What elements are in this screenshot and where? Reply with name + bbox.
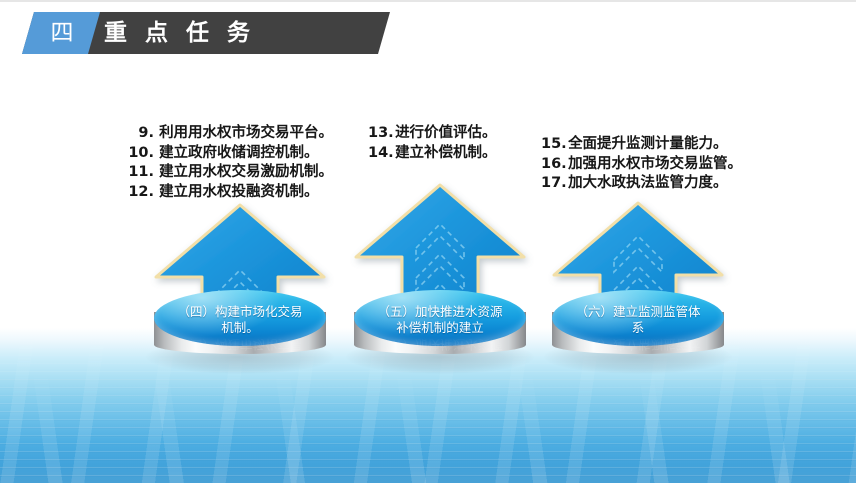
pedestal-label-line-2: 补偿机制的建立 [354, 320, 526, 336]
page-title: 重 点 任 务 [104, 20, 255, 47]
task-list-column-6: 15. 全面提升监测计量能力。 16. 加强用水权市场交易监管。 17. 加大水… [541, 135, 742, 194]
pedestal-label-line-1: （四）构建市场化交易 [154, 304, 326, 320]
slide-canvas: 四 重 点 任 务 9. 利用用水权市场交易平台。 10. 建立政府收储调控机制… [0, 0, 856, 483]
pedestal-label-line-1: （六）建立监测监管体 [552, 304, 724, 320]
pedestal-label-line-2: 系 [552, 320, 724, 336]
pedestal-label: （六）建立监测监管体 系 [552, 304, 724, 336]
list-item-text: 建立补偿机制。 [395, 145, 497, 161]
list-item-number: 16. [541, 155, 563, 175]
pedestal-5: （五）加快推进水资源 补偿机制的建立 （五）加快推进水资源 [354, 290, 526, 365]
pillar-group-4: （四）构建市场化交易 机制。 （四）构建市场化交易 [150, 202, 330, 372]
pedestal-label: （五）加快推进水资源 补偿机制的建立 [354, 304, 526, 336]
list-item-number: 17. [541, 174, 563, 194]
pillar-group-5: （五）加快推进水资源 补偿机制的建立 （五）加快推进水资源 [350, 182, 530, 372]
list-item: 9. 利用用水权市场交易平台。 [128, 124, 333, 144]
pedestal-label-line-1: （五）加快推进水资源 [354, 304, 526, 320]
task-list-column-5: 13. 进行价值评估。 14. 建立补偿机制。 [368, 124, 497, 163]
list-item: 13. 进行价值评估。 [368, 124, 497, 144]
pedestal-label-line-2: 机制。 [154, 320, 326, 336]
list-item: 11. 建立用水权交易激励机制。 [128, 163, 333, 183]
list-item: 12. 建立用水权投融资机制。 [128, 183, 333, 203]
task-list-column-4: 9. 利用用水权市场交易平台。 10. 建立政府收储调控机制。 11. 建立用水… [128, 124, 333, 202]
water-ripple-layer-2 [0, 373, 856, 483]
banner-section-number: 四 [34, 20, 90, 48]
list-item-number: 15. [541, 135, 563, 155]
list-item: 10. 建立政府收储调控机制。 [128, 144, 333, 164]
list-item: 15. 全面提升监测计量能力。 [541, 135, 742, 155]
list-item-text: 利用用水权市场交易平台。 [159, 125, 333, 141]
list-item: 17. 加大水政执法监管力度。 [541, 174, 742, 194]
list-item-number: 10. [128, 144, 154, 164]
list-item-number: 13. [368, 124, 390, 144]
list-item-number: 11. [128, 163, 154, 183]
list-item-number: 12. [128, 183, 154, 203]
list-item-number: 9. [128, 124, 154, 144]
list-item-text: 进行价值评估。 [395, 125, 497, 141]
list-item: 14. 建立补偿机制。 [368, 144, 497, 164]
list-item-text: 加大水政执法监管力度。 [568, 175, 728, 191]
list-item-text: 全面提升监测计量能力。 [568, 136, 728, 152]
list-item-text: 建立政府收储调控机制。 [159, 145, 319, 161]
pillar-group-6: （六）建立监测监管体 系 （六）建立监测监管体 [548, 200, 728, 372]
pedestal-label: （四）构建市场化交易 机制。 [154, 304, 326, 336]
list-item-number: 14. [368, 144, 390, 164]
pedestal-6: （六）建立监测监管体 系 （六）建立监测监管体 [552, 290, 724, 365]
list-item: 16. 加强用水权市场交易监管。 [541, 155, 742, 175]
list-item-text: 建立用水权交易激励机制。 [159, 164, 333, 180]
list-item-text: 加强用水权市场交易监管。 [568, 156, 742, 172]
header-banner: 四 重 点 任 务 [0, 12, 400, 54]
list-item-text: 建立用水权投融资机制。 [159, 184, 319, 200]
pedestal-4: （四）构建市场化交易 机制。 （四）构建市场化交易 [154, 290, 326, 365]
